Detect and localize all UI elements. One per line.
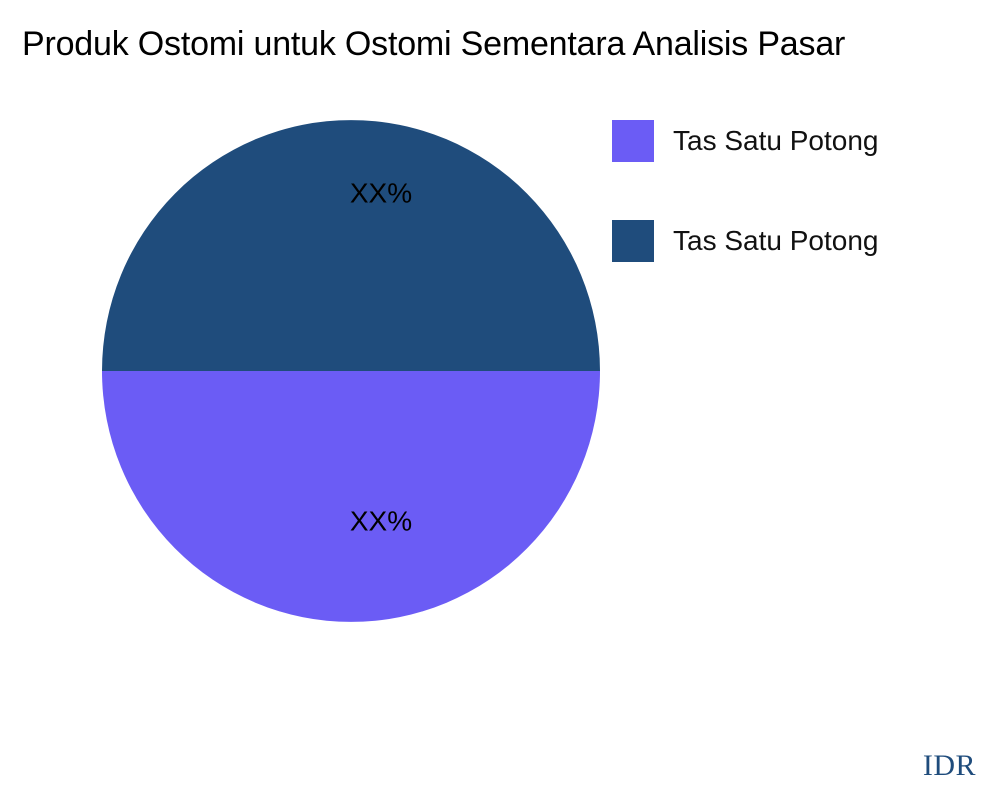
pie-slice-top[interactable] bbox=[102, 120, 600, 371]
legend-item-1[interactable]: Tas Satu Potong bbox=[612, 220, 982, 262]
legend-item-0[interactable]: Tas Satu Potong bbox=[612, 120, 982, 162]
legend-item-label: Tas Satu Potong bbox=[673, 220, 878, 262]
pie-chart: XX% XX% bbox=[102, 120, 600, 622]
pie-slice-bottom-label: XX% bbox=[350, 505, 412, 536]
pie-chart-svg: XX% XX% bbox=[102, 120, 600, 622]
legend-color-swatch-icon bbox=[612, 120, 654, 162]
chart-canvas: Produk Ostomi untuk Ostomi Sementara Ana… bbox=[0, 0, 1000, 800]
chart-legend: Tas Satu Potong Tas Satu Potong bbox=[612, 120, 982, 320]
legend-item-label: Tas Satu Potong bbox=[673, 120, 878, 162]
currency-label: IDR bbox=[923, 749, 976, 783]
legend-color-swatch-icon bbox=[612, 220, 654, 262]
pie-slice-bottom[interactable] bbox=[102, 371, 600, 622]
page-title: Produk Ostomi untuk Ostomi Sementara Ana… bbox=[22, 22, 982, 66]
pie-slice-top-label: XX% bbox=[350, 177, 412, 208]
